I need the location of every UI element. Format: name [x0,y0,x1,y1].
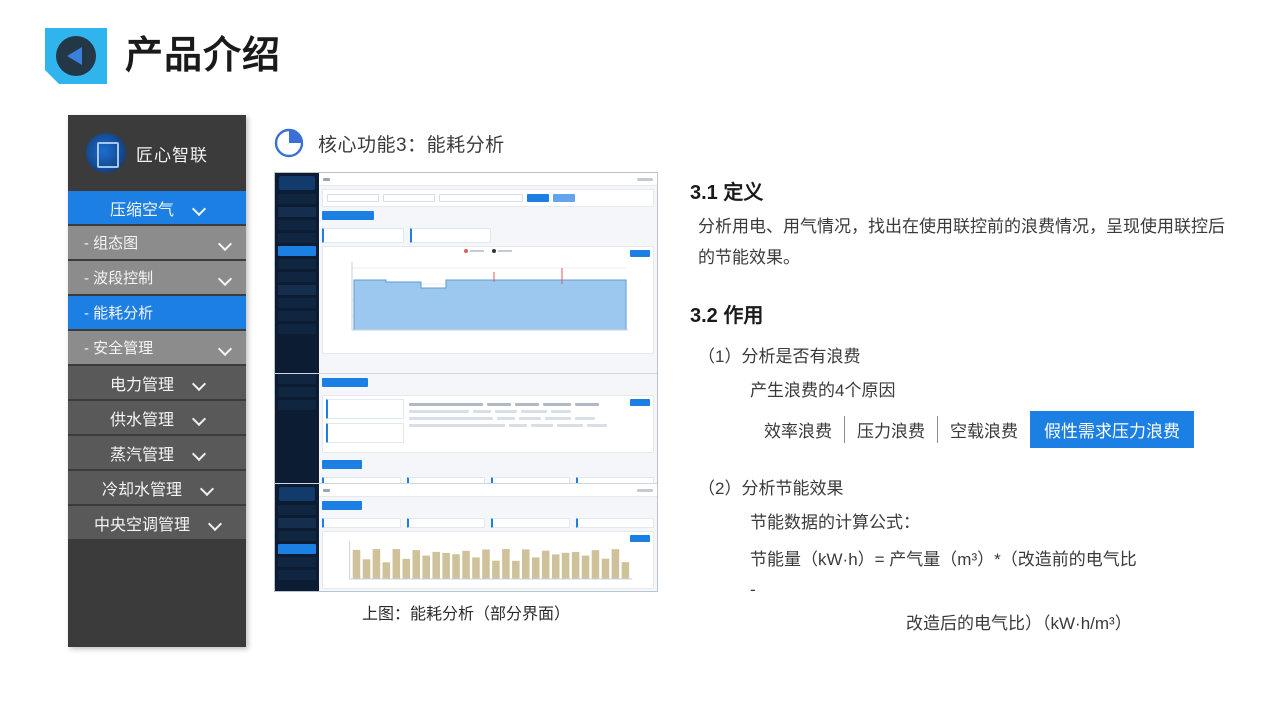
sidebar-item-0[interactable]: 压缩空气 [68,191,246,226]
mock-nav-item [278,285,316,295]
sidebar-item-3[interactable]: - 能耗分析 [68,296,246,331]
screenshot-caption: 上图：能耗分析（部分界面） [274,600,658,624]
mock-select [383,194,435,202]
mock-nav-item [278,387,316,397]
mock-nav-logo [279,176,315,190]
mock-kpi-card [576,518,655,528]
chevron-down-icon[interactable] [192,201,206,215]
waste-reason-list: 效率浪费压力浪费空载浪费假性需求压力浪费 [690,411,1236,448]
formula-line-1: 节能量（kW·h）= 产气量（m³）*（改造前的电气比 [690,545,1236,575]
mock-content-middle [319,374,657,483]
bullet-1-sub: 产生浪费的4个原因 [690,376,1236,401]
mock-table-row [409,424,650,427]
screenshot-pane-bar [275,483,657,592]
waste-reason-3-highlighted: 假性需求压力浪费 [1030,411,1194,448]
mock-nav-rail [275,374,319,483]
mock-table-header [409,403,650,406]
sidebar-logo: 匠心智联 [68,115,246,191]
product-screenshot [274,172,658,592]
mock-select [327,194,379,202]
mock-topbar-user [637,489,653,492]
right-content: 3.1 定义 分析用电、用气情况，找出在使用联控前的浪费情况，呈现使用联控后的节… [690,176,1236,634]
mock-nav-item [278,557,316,567]
sidebar-item-4[interactable]: - 安全管理 [68,331,246,366]
sidebar-item-label: 电力管理 [110,371,174,395]
mock-nav-item [278,233,316,243]
mock-kpi-card [491,518,570,528]
mock-nav-item [278,505,316,515]
sidebar-item-1[interactable]: - 组态图 [68,226,246,261]
chevron-down-icon[interactable] [192,376,206,390]
mock-nav-item [278,194,316,204]
mock-content-bar [319,484,657,592]
mock-section-tag [322,460,362,469]
mock-nav-item [278,311,316,321]
brand-logo-icon [86,133,126,173]
chevron-down-icon[interactable] [192,446,206,460]
section-3-1-title: 3.1 定义 [690,176,1236,205]
sidebar-item-9[interactable]: 中央空调管理 [68,506,246,541]
mock-query-button [527,194,549,202]
mock-export-button [630,535,650,542]
mock-bar-chart-tan [326,535,650,585]
chevron-down-icon[interactable] [200,481,214,495]
sidebar-panel: 匠心智联 压缩空气- 组态图- 波段控制- 能耗分析- 安全管理电力管理供水管理… [68,115,246,647]
mock-section-tag [322,501,362,510]
mock-kpi-card [322,518,401,528]
mock-nav-item [278,272,316,282]
sidebar-item-label: 蒸汽管理 [110,441,174,465]
mock-topbar-user [637,178,653,181]
mock-topbar-actions [637,178,653,181]
hamburger-icon [323,178,330,181]
sidebar-item-7[interactable]: 蒸汽管理 [68,436,246,471]
mock-nav-item [278,298,316,308]
center-heading: 核心功能3：能耗分析 [272,126,505,160]
chevron-down-icon[interactable] [218,341,232,355]
mock-nav-item-active [278,544,316,554]
bullet-2: （2）分析节能效果 [690,474,1236,499]
mock-nav-item [278,374,316,384]
bullet-2-sub: 节能数据的计算公式： [690,508,1236,533]
sidebar-item-5[interactable]: 电力管理 [68,366,246,401]
mock-daterange [439,194,523,202]
mock-area-chart [326,250,656,342]
sidebar-item-label: 压缩空气 [110,196,174,220]
chevron-down-icon[interactable] [208,516,222,530]
mock-nav-item [278,259,316,269]
mock-export-button [630,399,650,406]
chevron-down-icon[interactable] [218,236,232,250]
mock-topbar [319,484,657,497]
sidebar-item-label: - 组态图 [84,232,138,253]
mock-section-tag [322,378,368,387]
sidebar-item-8[interactable]: 冷却水管理 [68,471,246,506]
sidebar-item-label: - 能耗分析 [84,302,153,323]
mock-topbar [319,173,657,186]
sidebar-menu: 压缩空气- 组态图- 波段控制- 能耗分析- 安全管理电力管理供水管理蒸汽管理冷… [68,191,246,541]
center-heading-label: 核心功能3：能耗分析 [318,130,505,157]
mock-reset-button [553,194,575,202]
section-3-2-title: 3.2 作用 [690,299,1236,328]
sidebar-logo-label: 匠心智联 [136,141,208,166]
play-triangle-icon [56,36,96,76]
pie-chart-icon [272,126,306,160]
sidebar-item-label: - 安全管理 [84,337,153,358]
mock-table-row [409,417,650,420]
triangle-glyph [67,47,82,65]
sidebar-item-label: 冷却水管理 [102,476,182,500]
mock-filter-bar [322,189,654,207]
mock-kpi-row [322,228,654,243]
mock-nav-logo [279,487,315,501]
formula-dash: - [690,575,1236,605]
header-badge [45,28,107,84]
page-title: 产品介绍 [125,37,281,75]
mock-content-top [319,173,657,373]
mock-nav-item [278,531,316,541]
sidebar-item-label: 供水管理 [110,406,174,430]
sidebar-item-label: - 波段控制 [84,267,153,288]
mock-nav-item-active [278,246,316,256]
mock-kpi-card [326,423,404,443]
waste-reason-0: 效率浪费 [752,411,844,448]
waste-reason-2: 空载浪费 [938,411,1030,448]
mock-nav-item [278,207,316,217]
mock-nav-item [278,570,316,580]
waste-reason-1: 压力浪费 [845,411,937,448]
formula-line-2: 改造后的电气比）（kW·h/m³） [690,609,1236,634]
mock-kpi-row [322,518,654,528]
slide-header: 产品介绍 [45,28,281,84]
mock-kpi-card [326,399,404,419]
mock-nav-rail [275,484,319,592]
sidebar-item-2[interactable]: - 波段控制 [68,261,246,296]
mock-nav-item [278,400,316,410]
slide-canvas: 产品介绍 匠心智联 压缩空气- 组态图- 波段控制- 能耗分析- 安全管理电力管… [0,0,1280,720]
mock-bar-chart-panel [322,531,654,589]
mock-nav-rail [275,173,319,373]
mock-kpi-card [322,228,404,243]
mock-section-tag [322,211,374,220]
section-3-1-body: 分析用电、用气情况，找出在使用联控前的浪费情况，呈现使用联控后的节能效果。 [690,211,1236,273]
mock-kpi-card [407,518,486,528]
hamburger-icon [323,489,330,492]
mock-nav-item [278,518,316,528]
screenshot-pane-top [275,173,657,373]
chevron-down-icon[interactable] [218,271,232,285]
mock-nav-item [278,324,316,334]
mock-area-chart-panel [322,246,654,354]
chevron-down-icon[interactable] [192,411,206,425]
sidebar-item-label: 中央空调管理 [94,511,190,535]
screenshot-pane-middle [275,373,657,483]
bullet-1: （1）分析是否有浪费 [690,342,1236,367]
mock-nav-item [278,220,316,230]
mock-kpi-card [410,228,492,243]
mock-table-row [409,410,650,413]
mock-table-panel [322,395,654,453]
sidebar-item-6[interactable]: 供水管理 [68,401,246,436]
